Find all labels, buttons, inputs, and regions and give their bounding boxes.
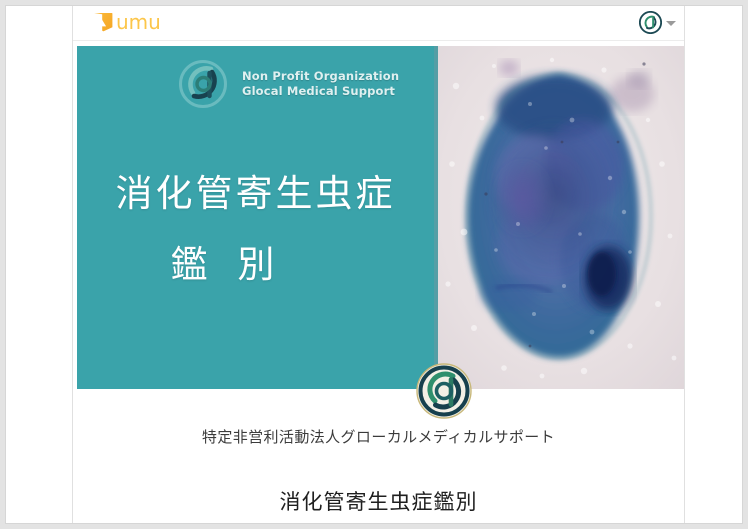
account-menu[interactable]	[639, 11, 676, 34]
page-sheet: umu	[6, 6, 742, 523]
umu-brand-logo[interactable]: umu	[91, 10, 161, 34]
content-column: umu	[72, 6, 685, 523]
screenshot-viewport: umu	[0, 0, 748, 529]
deck-title: 消化管寄生虫症鑑別	[73, 486, 684, 516]
chevron-down-icon	[666, 21, 676, 26]
npo-logo-lockup: Non Profit Organization Glocal Medical S…	[177, 59, 399, 109]
slide-title-main: 消化管寄生虫症	[77, 163, 434, 217]
npo-line-1: Non Profit Organization	[242, 69, 399, 84]
slide-preview[interactable]: Non Profit Organization Glocal Medical S…	[77, 46, 684, 389]
organization-caption: 特定非営利活動法人グローカルメディカルサポート	[73, 426, 684, 447]
app-header: umu	[73, 6, 684, 41]
org-avatar-icon	[639, 11, 662, 34]
gms-circle-badge-icon	[415, 362, 473, 420]
umu-logo-icon	[91, 10, 115, 34]
npo-text: Non Profit Organization Glocal Medical S…	[242, 69, 399, 99]
umu-wordmark: umu	[116, 10, 161, 34]
microscope-slide-image	[434, 46, 684, 389]
parasite-microscopy-photo	[434, 46, 684, 389]
slide-title-sub: 鑑 別	[77, 234, 377, 288]
npo-line-2: Glocal Medical Support	[242, 84, 399, 99]
gms-circle-logo-icon	[177, 59, 229, 109]
org-badge	[415, 362, 473, 420]
slide-title-panel: Non Profit Organization Glocal Medical S…	[77, 46, 434, 389]
